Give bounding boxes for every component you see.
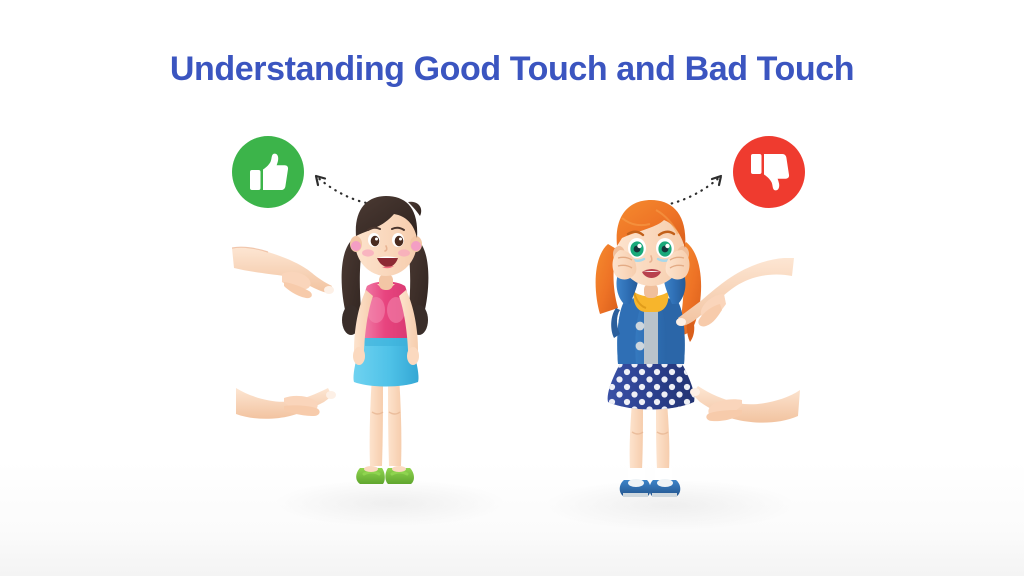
scene (0, 110, 1024, 540)
good-pointing-hand-hand (236, 372, 348, 428)
thumbs-down-icon (733, 136, 805, 208)
bad-touch-badge (733, 136, 805, 208)
happy-girl-figure (320, 180, 450, 520)
pointing-hand-icon (232, 242, 352, 304)
pointing-hand-icon (680, 372, 800, 436)
sad-girl-illustration (578, 188, 724, 520)
good-touch-badge (232, 136, 304, 208)
bad-pointing-hand-chest (668, 258, 794, 334)
illustration-canvas: Understanding Good Touch and Bad Touch (0, 0, 1024, 576)
bad-pointing-hand-skirt (680, 372, 800, 436)
page-title: Understanding Good Touch and Bad Touch (0, 50, 1024, 89)
sad-girl-figure (578, 188, 724, 520)
pointing-hand-icon (236, 372, 348, 428)
pointing-hand-icon (668, 258, 794, 334)
good-pointing-hand-shoulder (232, 242, 352, 304)
happy-girl-illustration (320, 180, 450, 520)
thumbs-up-icon (232, 136, 304, 208)
